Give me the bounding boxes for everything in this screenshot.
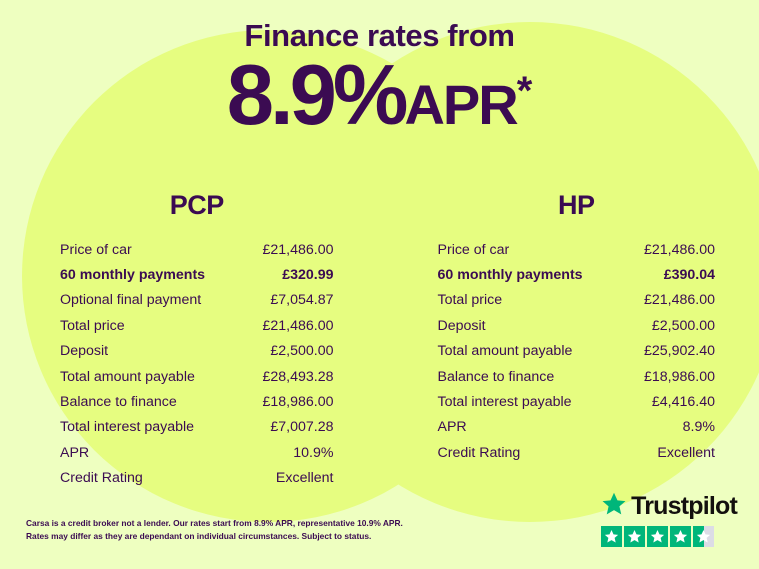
table-row: Balance to finance£18,986.00 [60, 389, 334, 414]
disclaimer-line-2: Rates may differ as they are dependant o… [26, 530, 403, 543]
row-value: Excellent [276, 471, 334, 485]
table-row: APR10.9% [60, 440, 334, 465]
row-label: 60 monthly payments [438, 268, 583, 282]
trustpilot-wordmark: Trustpilot [601, 491, 737, 522]
trustpilot-rating-stars [601, 526, 737, 547]
row-value: £28,493.28 [262, 370, 333, 384]
row-label: Total interest payable [60, 420, 194, 434]
row-value: £2,500.00 [270, 344, 333, 358]
trustpilot-name: Trustpilot [631, 494, 737, 519]
table-title-pcp: PCP [60, 190, 334, 221]
row-label: Balance to finance [438, 370, 555, 384]
row-label: Deposit [438, 319, 486, 333]
table-rows-hp: Price of car£21,486.0060 monthly payment… [438, 237, 716, 466]
row-label: Total price [438, 293, 503, 307]
finance-table-pcp: PCP Price of car£21,486.0060 monthly pay… [0, 190, 380, 491]
row-value: £7,007.28 [270, 420, 333, 434]
disclaimer-text: Carsa is a credit broker not a lender. O… [26, 517, 403, 543]
table-row: Deposit£2,500.00 [60, 339, 334, 364]
row-value: 10.9% [293, 446, 333, 460]
row-label: Deposit [60, 344, 108, 358]
table-row: Total amount payable£25,902.40 [438, 339, 716, 364]
rating-star-full-icon [601, 526, 622, 547]
table-row: Price of car£21,486.00 [60, 237, 334, 262]
row-value: £390.04 [664, 268, 715, 282]
table-rows-pcp: Price of car£21,486.0060 monthly payment… [60, 237, 334, 491]
table-row: Credit RatingExcellent [60, 466, 334, 491]
row-label: 60 monthly payments [60, 268, 205, 282]
row-value: £21,486.00 [644, 293, 715, 307]
row-label: APR [438, 420, 467, 434]
row-value: £21,486.00 [262, 243, 333, 257]
row-value: Excellent [657, 446, 715, 460]
row-label: Total amount payable [438, 344, 573, 358]
row-label: Total amount payable [60, 370, 195, 384]
table-row: Price of car£21,486.00 [438, 237, 716, 262]
row-value: £320.99 [282, 268, 333, 282]
table-row: Deposit£2,500.00 [438, 313, 716, 338]
table-row: Total amount payable£28,493.28 [60, 364, 334, 389]
finance-table-hp: HP Price of car£21,486.0060 monthly paym… [380, 190, 759, 491]
trustpilot-badge[interactable]: Trustpilot [601, 491, 737, 547]
table-row: Optional final payment£7,054.87 [60, 288, 334, 313]
headline-block: Finance rates from 8.9% APR * [0, 20, 759, 135]
row-label: Price of car [60, 243, 132, 257]
headline-rate-row: 8.9% APR * [0, 57, 759, 135]
headline-subtitle: Finance rates from [0, 20, 759, 51]
table-row: APR8.9% [438, 415, 716, 440]
row-label: Total interest payable [438, 395, 572, 409]
row-value: £7,054.87 [270, 293, 333, 307]
row-value: £4,416.40 [652, 395, 715, 409]
rating-star-full-icon [624, 526, 645, 547]
finance-tables: PCP Price of car£21,486.0060 monthly pay… [0, 190, 759, 491]
row-value: £21,486.00 [644, 243, 715, 257]
table-row: 60 monthly payments£320.99 [60, 262, 334, 287]
row-label: Credit Rating [438, 446, 521, 460]
rating-star-full-icon [670, 526, 691, 547]
table-row: Total price£21,486.00 [438, 288, 716, 313]
row-label: Credit Rating [60, 471, 143, 485]
headline-rate-value: 8.9% [227, 57, 405, 135]
row-value: £2,500.00 [652, 319, 715, 333]
row-label: APR [60, 446, 89, 460]
row-value: £25,902.40 [644, 344, 715, 358]
table-title-hp: HP [438, 190, 716, 221]
headline-asterisk: * [517, 73, 533, 110]
table-row: 60 monthly payments£390.04 [438, 262, 716, 287]
row-label: Total price [60, 319, 125, 333]
row-value: £21,486.00 [262, 319, 333, 333]
table-row: Balance to finance£18,986.00 [438, 364, 716, 389]
rating-star-half-icon [693, 526, 714, 547]
disclaimer-line-1: Carsa is a credit broker not a lender. O… [26, 517, 403, 530]
row-label: Price of car [438, 243, 510, 257]
row-label: Optional final payment [60, 293, 201, 307]
row-value: £18,986.00 [644, 370, 715, 384]
rating-star-full-icon [647, 526, 668, 547]
headline-apr-label: APR [404, 79, 516, 131]
row-value: 8.9% [683, 420, 715, 434]
poster-canvas: Finance rates from 8.9% APR * PCP Price … [0, 0, 759, 569]
table-row: Credit RatingExcellent [438, 440, 716, 465]
table-row: Total interest payable£4,416.40 [438, 389, 716, 414]
row-value: £18,986.00 [262, 395, 333, 409]
trustpilot-star-icon [601, 491, 627, 522]
table-row: Total price£21,486.00 [60, 313, 334, 338]
table-row: Total interest payable£7,007.28 [60, 415, 334, 440]
row-label: Balance to finance [60, 395, 177, 409]
